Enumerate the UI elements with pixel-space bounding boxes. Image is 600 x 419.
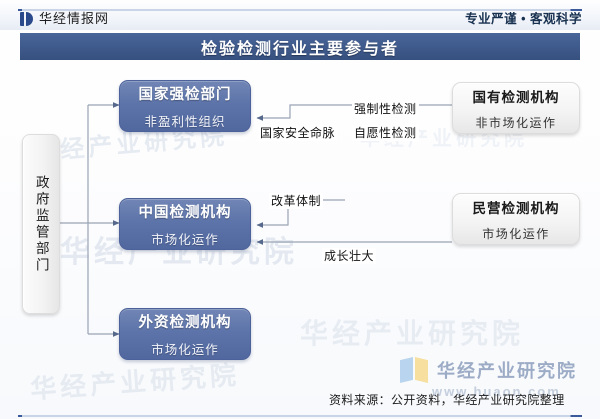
edge-label-system-reform: 改革体制 [269,193,323,209]
node-subtitle: 非盈利性组织 [144,111,225,130]
flag-mark-icon [20,12,33,26]
node-government-regulator[interactable]: 政府监管部门 [22,134,60,314]
edge-label-mandatory-testing: 强制性检测 [352,101,419,117]
footer: 华经产业研究院 www.huaon.com 资料来源：公开资料，华经产业研究院整… [0,352,600,419]
title-banner: 检验检测行业主要参与者 [20,33,580,60]
top-brand-bar: 华经情报网 专业严谨 • 客观科学 [0,0,600,30]
node-title: 国家强检部门 [139,83,232,104]
node-subtitle: 非市场化运作 [475,114,556,131]
book-logo-icon [400,357,430,383]
logo-text: 华经产业研究院 [437,357,577,383]
screenshot-root: 华经情报网 专业严谨 • 客观科学 检验检测行业主要参与者 华经产业研究院 华经… [0,0,600,419]
diagram-canvas: 华经产业研究院 华经产业研究院 华经产业研究院 华经产业研究院 华经产业研究院 [0,62,600,352]
node-title: 外资检测机构 [139,311,232,332]
node-state-owned-testing-organization[interactable]: 国有检测机构 非市场化运作 [452,82,580,134]
node-label: 政府监管部门 [34,175,48,274]
node-national-mandatory-inspection[interactable]: 国家强检部门 非盈利性组织 [119,80,251,132]
node-subtitle: 市场化运作 [482,225,550,242]
source-note: 资料来源：公开资料，华经产业研究院整理 [329,391,565,408]
page-title: 检验检测行业主要参与者 [201,35,399,59]
brand: 华经情报网 [20,12,109,26]
node-chinese-testing-organization[interactable]: 中国检测机构 市场化运作 [119,198,251,250]
node-title: 国有检测机构 [473,86,560,106]
company-logo: 华经产业研究院 [400,357,577,383]
brand-tagline: 专业严谨 • 客观科学 [465,12,582,26]
edge-label-national-security-lifeline: 国家安全命脉 [258,125,337,141]
brand-name: 华经情报网 [39,12,109,26]
node-title: 中国检测机构 [139,201,232,222]
node-title: 民营检测机构 [473,197,560,217]
edge-label-voluntary-testing: 自愿性检测 [352,125,419,141]
node-subtitle: 市场化运作 [151,229,219,248]
edge-label-growth: 成长壮大 [322,248,376,264]
node-private-testing-organization[interactable]: 民营检测机构 市场化运作 [452,193,580,245]
footer-divider-line [18,415,582,417]
